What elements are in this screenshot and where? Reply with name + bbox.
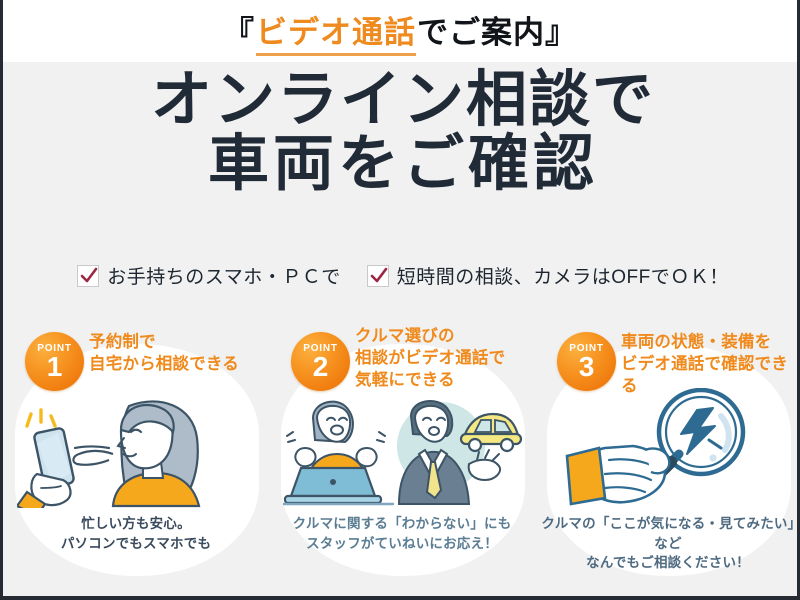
point-caption-line: パソコンでもスマホでも (7, 534, 265, 554)
woman-with-smartphone-illustration (17, 388, 257, 508)
point-badge-3: POINT 3 (557, 332, 616, 391)
point-caption-line: 忙しい方も安心。 (7, 514, 265, 534)
point-title-line: 車両の状態・装備を (621, 332, 800, 354)
point-caption-line: クルマに関する「わからない」にも (273, 514, 531, 534)
hand-holding-magnifier-illustration (549, 388, 789, 508)
point-caption-2: クルマに関する「わからない」にも スタッフがていねいにお応え！ (273, 514, 531, 553)
point-title-line: クルマ選びの (355, 326, 535, 348)
feature-check-item-2: 短時間の相談、カメラはOFFでＯＫ！ (367, 262, 729, 289)
woman-laptop-and-salesman-with-car-illustration (283, 388, 523, 508)
point-caption-line: スタッフがていねいにお応え！ (273, 534, 531, 554)
point-caption-line: なんでもご相談ください！ (539, 553, 797, 573)
point-title-1: 予約制で 自宅から相談できる (89, 332, 269, 376)
points-section: POINT 1 予約制で 自宅から相談できる (3, 318, 800, 586)
point-card-3: POINT 3 車両の状態・装備を ビデオ通話で確認できる (535, 318, 800, 586)
bracket-close: 』 (545, 7, 577, 52)
point-card-2: POINT 2 クルマ選びの 相談がビデオ通話で 気軽にできる (269, 318, 535, 586)
main-heading: オンライン相談で 車両をご確認 (3, 70, 800, 193)
banner-header: 『ビデオ通話でご案内』 (3, 0, 797, 62)
point-caption-1: 忙しい方も安心。 パソコンでもスマホでも (7, 514, 265, 553)
header-title: 『ビデオ通話でご案内』 (223, 7, 577, 56)
feature-check-label-2: 短時間の相談、カメラはOFFでＯＫ！ (397, 262, 729, 289)
feature-check-label-1: お手持ちのスマホ・ＰＣで (107, 262, 340, 289)
main-heading-line-2: 車両をご確認 (3, 134, 800, 193)
point-caption-3: クルマの「ここが気になる・見てみたい」など なんでもご相談ください！ (539, 514, 797, 573)
point-badge-2: POINT 2 (291, 332, 350, 391)
bracket-open: 『 (223, 7, 255, 52)
point-badge-number: 1 (47, 353, 63, 381)
promo-banner: 『ビデオ通話でご案内』 オンライン相談で 車両をご確認 お手持ちのスマホ・ＰＣで… (0, 0, 800, 600)
point-badge-number: 2 (313, 353, 329, 381)
point-title-2: クルマ選びの 相談がビデオ通話で 気軽にできる (355, 326, 535, 391)
check-icon (367, 265, 389, 287)
point-badge-1: POINT 1 (25, 332, 84, 391)
check-icon (77, 265, 99, 287)
point-card-1: POINT 1 予約制で 自宅から相談できる (3, 318, 269, 586)
header-highlight-text: ビデオ通話 (256, 7, 416, 56)
feature-check-item-1: お手持ちのスマホ・ＰＣで (77, 262, 340, 289)
point-title-line: 自宅から相談できる (89, 354, 269, 376)
main-heading-line-1: オンライン相談で (3, 70, 800, 129)
point-title-line: 相談がビデオ通話で (355, 348, 535, 370)
feature-check-row: お手持ちのスマホ・ＰＣで 短時間の相談、カメラはOFFでＯＫ！ (3, 262, 800, 289)
point-title-line: 予約制で (89, 332, 269, 354)
header-rest-text: でご案内 (417, 7, 545, 52)
point-caption-line: クルマの「ここが気になる・見てみたい」など (539, 514, 797, 553)
point-badge-number: 3 (579, 353, 595, 381)
